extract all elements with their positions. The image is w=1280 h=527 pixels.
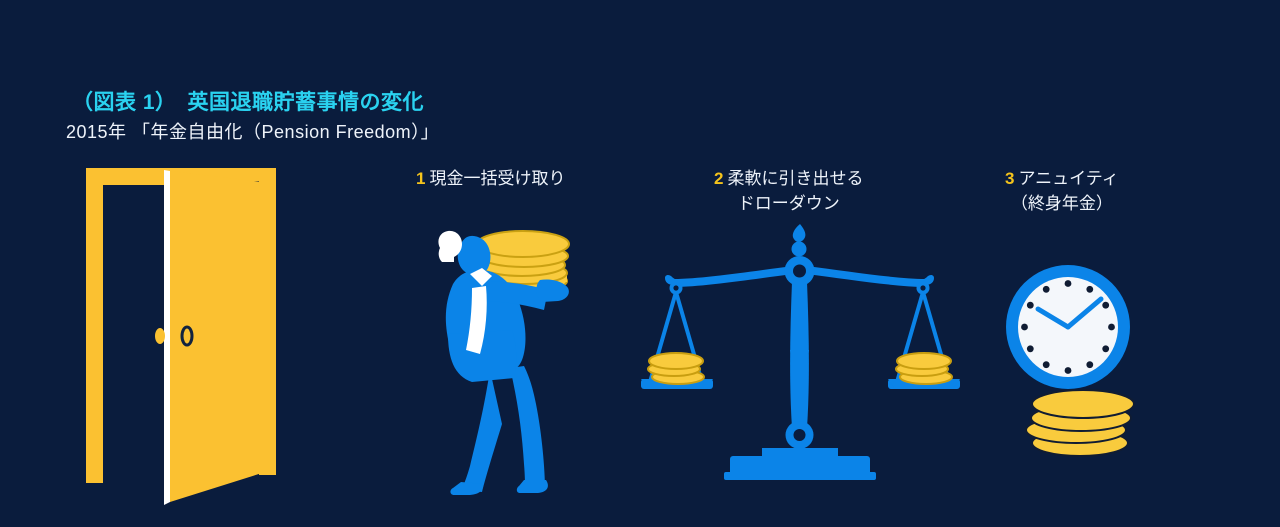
scale-right-coins [896, 353, 952, 384]
scale-left-coins [648, 353, 704, 384]
option-3-caption: 3アニュイティ （終身年金） [1005, 166, 1119, 216]
balance-scale-with-coins-icon [638, 222, 963, 487]
clock-face [1006, 265, 1130, 389]
option-2-label-line2: ドローダウン [714, 191, 863, 216]
option-3-label-line2: （終身年金） [1005, 191, 1119, 216]
page-title: （図表 1） 英国退職貯蓄事情の変化 [72, 86, 424, 116]
option-3-label: アニュイティ [1018, 169, 1118, 188]
page-subtitle: 2015年 「年金自由化（Pension Freedom）」 [66, 118, 439, 144]
clock-coin-stack [1026, 390, 1134, 456]
man-carrying-coin-stack-icon [418, 218, 603, 498]
option-1-caption: 1現金一括受け取り [416, 166, 565, 191]
option-2-label: 柔軟に引き出せる [727, 169, 863, 188]
wall-clock-over-coin-stack-icon [988, 258, 1173, 463]
option-2-number: 2 [714, 169, 723, 188]
option-1-label: 現金一括受け取り [429, 169, 565, 188]
option-2-caption: 2柔軟に引き出せる ドローダウン [714, 166, 863, 216]
open-door-icon [86, 168, 336, 513]
option-1-number: 1 [416, 169, 425, 188]
infographic-canvas: （図表 1） 英国退職貯蓄事情の変化 2015年 「年金自由化（Pension … [0, 0, 1280, 527]
option-3-number: 3 [1005, 169, 1014, 188]
